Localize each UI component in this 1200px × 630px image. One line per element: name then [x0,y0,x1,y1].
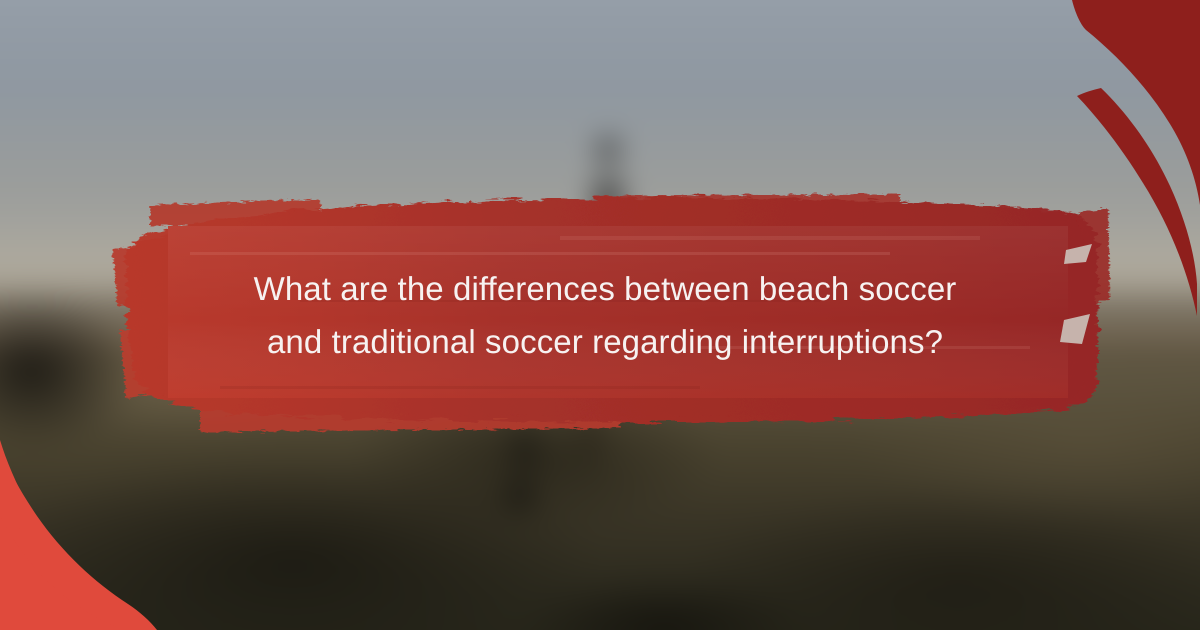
share-card: What are the differences between beach s… [0,0,1200,630]
headline-text: What are the differences between beach s… [120,262,1090,368]
